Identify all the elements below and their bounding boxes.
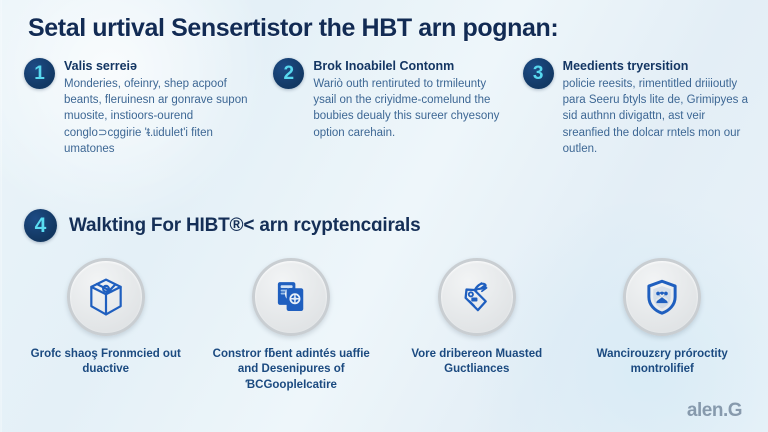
step-number-badge-4: 4	[24, 209, 57, 242]
column-body-1: Valis serreiə Monderies, ofeinry, shep a…	[64, 58, 251, 157]
icon-feature-4: Wancirouzɛry próroctity montrolifief	[573, 258, 753, 393]
step-number-badge-3: 3	[523, 58, 554, 89]
column-text-1: Monderies, ofeinry, shep acpoof beants, …	[64, 76, 251, 158]
price-tag-icon	[456, 276, 498, 318]
documents-cards-icon	[270, 276, 312, 318]
icon-feature-row: Grofc shaoş Fronmcied out duactive Const…	[16, 258, 752, 393]
column-item-1: 1 Valis serreiə Monderies, ofeinry, shep…	[24, 58, 251, 157]
column-body-2: Brok Inoabilel Contonm Wariò outh rentir…	[313, 58, 500, 141]
step-number-badge-2: 2	[273, 58, 304, 89]
column-heading-3: Meedients tryersition	[563, 59, 750, 74]
icon-circle-1	[67, 258, 145, 336]
column-body-3: Meedients tryersition policie reesits, r…	[563, 58, 750, 157]
brand-watermark: alen.G	[687, 400, 742, 422]
icon-circle-3	[438, 258, 516, 336]
section-four-header: 4 Walkting For HIBT®< arn rcyptencɑirals	[24, 209, 420, 242]
column-item-2: 2 Brok Inoabilel Contonm Wariò outh rent…	[273, 58, 500, 157]
icon-circle-4	[623, 258, 701, 336]
column-heading-1: Valis serreiə	[64, 59, 251, 74]
column-heading-2: Brok Inoabilel Contonm	[313, 59, 500, 74]
section-four-title: Walkting For HIBT®< arn rcyptencɑirals	[69, 215, 420, 237]
icon-caption-1: Grofc shaoş Fronmcied out duactive	[16, 347, 196, 378]
icon-feature-1: Grofc shaoş Fronmcied out duactive	[16, 258, 196, 393]
package-box-icon	[84, 275, 128, 319]
infographic-poster: Setal urtival Sensertistor the HBT arn p…	[0, 0, 768, 432]
shield-badge-icon	[641, 276, 683, 318]
icon-circle-2	[252, 258, 330, 336]
step-number-badge-1: 1	[24, 58, 55, 89]
icon-caption-3: Vore dribereon Muasted Guctliances	[387, 347, 567, 378]
icon-feature-2: Constror fƃent adintés uaffie and Deseni…	[202, 258, 382, 393]
column-text-2: Wariò outh rentiruted to trmileunty ysai…	[313, 76, 500, 141]
icon-feature-3: Vore dribereon Muasted Guctliances	[387, 258, 567, 393]
icon-caption-2: Constror fƃent adintés uaffie and Deseni…	[202, 347, 382, 393]
column-text-3: policie reesits, rimentitled driiioutly …	[563, 76, 750, 158]
numbered-columns: 1 Valis serreiə Monderies, ofeinry, shep…	[24, 58, 750, 157]
icon-caption-4: Wancirouzɛry próroctity montrolifief	[573, 347, 753, 378]
column-item-3: 3 Meedients tryersition policie reesits,…	[523, 58, 750, 157]
page-title: Setal urtival Sensertistor the HBT arn p…	[28, 14, 558, 43]
